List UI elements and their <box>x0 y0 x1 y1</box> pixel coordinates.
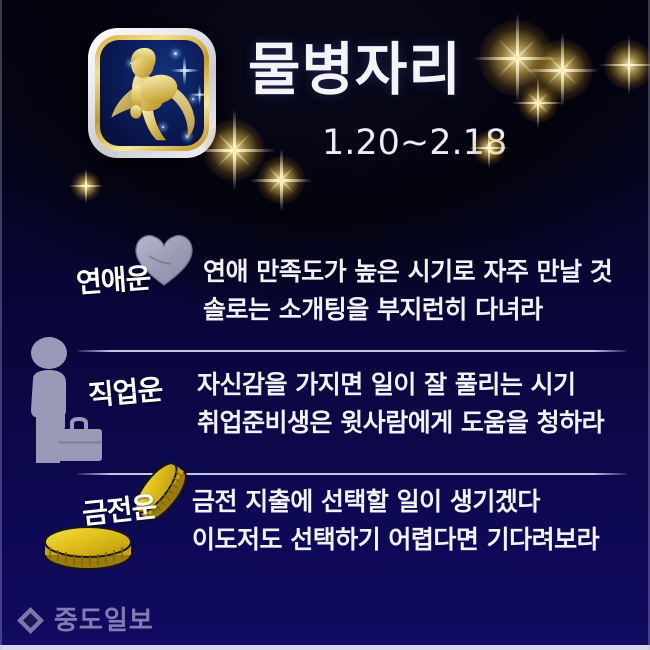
section-line-career-2: 취업준비생은 윗사람에게 도움을 청하라 <box>197 404 604 442</box>
aquarius-zodiac-icon <box>88 28 216 158</box>
section-divider <box>78 350 626 352</box>
publisher-logo[interactable]: 중도일보 <box>16 606 154 635</box>
section-line-money-2: 이도저도 선택하기 어렵다면 기다려보라 <box>192 521 599 559</box>
section-line-love-1: 연애 만족도가 높은 시기로 자주 만날 것 <box>203 253 612 291</box>
section-line-money-1: 금전 지출에 선택할 일이 생기겠다 <box>192 483 540 521</box>
logo-text: 중도일보 <box>54 608 154 634</box>
left-border <box>0 0 2 650</box>
section-label-career: 직업운 <box>86 368 163 414</box>
section-line-love-2: 솔로는 소개팅을 부지런히 다녀라 <box>203 291 543 329</box>
zodiac-icon-starfield <box>100 40 204 146</box>
diamond-logo-icon <box>16 606 45 635</box>
section-line-career-1: 자신감을 가지면 일이 잘 풀리는 시기 <box>197 366 576 404</box>
zodiac-icon-gold-frame <box>95 35 209 151</box>
section-label-love: 연애운 <box>75 256 152 301</box>
page-title: 물병자리 <box>248 42 462 99</box>
date-range: 1.20~2.18 <box>322 126 507 161</box>
bottom-border <box>0 645 650 650</box>
section-label-money: 금전운 <box>80 485 158 533</box>
aquarius-water-bearer-figure <box>100 40 204 146</box>
horoscope-card: 물병자리 1.20~2.18 <box>0 0 650 650</box>
